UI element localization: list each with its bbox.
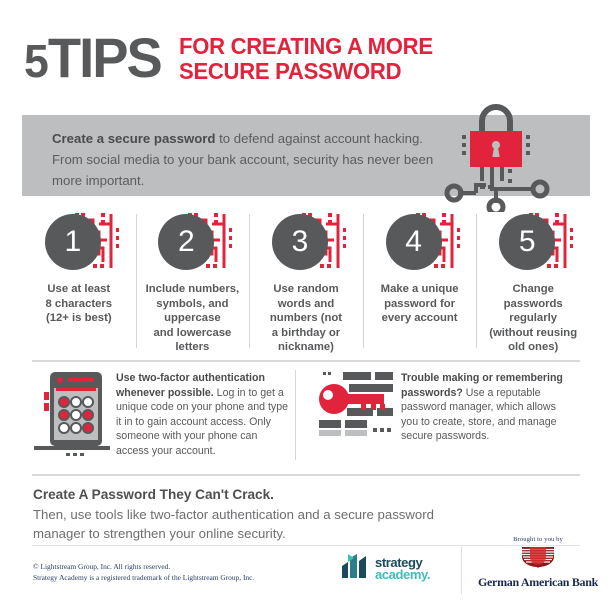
panel-two-factor: Use two-factor authentication whenever p… — [32, 370, 295, 470]
german-american-bank-logo: Brought to you by German American Bank — [472, 536, 604, 590]
tips-count: 5 — [24, 35, 48, 87]
footer-separator — [461, 546, 462, 594]
footer-legal: © Lightstream Group, Inc. All rights res… — [33, 562, 254, 583]
padlock-circuit-icon — [440, 97, 570, 212]
tip-number-5: 5 — [499, 214, 555, 270]
tip-text-3: Use randomwords andnumbers (nota birthda… — [255, 282, 357, 355]
strategy-academy-logo-icon — [340, 552, 370, 585]
infographic-page: 5TIPS FOR CREATING A MORE SECURE PASSWOR… — [0, 0, 612, 601]
tip-number-2: 2 — [158, 214, 214, 270]
divider-middle — [32, 474, 580, 476]
tip-item-3: 3 Use randomwords andnumbers (nota birth… — [249, 210, 363, 350]
panel-password-manager: Trouble making or remembering passwords?… — [295, 370, 580, 470]
footer-legal-line2: Strategy Academy is a registered tradema… — [33, 573, 254, 584]
german-american-bank-logo-icon — [472, 545, 604, 574]
footer-legal-line1: © Lightstream Group, Inc. All rights res… — [33, 562, 254, 573]
tip-badge-1: 1 — [28, 210, 130, 278]
tips-row: 1 Use at least8 characters(12+ is best) — [22, 210, 590, 350]
panel-password-manager-text: Trouble making or remembering passwords?… — [401, 370, 574, 470]
header: 5TIPS FOR CREATING A MORE SECURE PASSWOR… — [24, 20, 590, 98]
tip-text-5: Changepasswordsregularly(without reusing… — [482, 282, 584, 355]
tip-badge-2: 2 — [142, 210, 244, 278]
tip-number-1: 1 — [45, 214, 101, 270]
german-american-bank-name: German American Bank — [472, 575, 604, 590]
tip-item-5: 5 Changepasswordsregularly(without reusi… — [476, 210, 590, 350]
tip-badge-5: 5 — [482, 210, 584, 278]
divider-top — [32, 360, 580, 362]
tip-item-2: 2 Include numbers,symbols, anduppercasea… — [136, 210, 250, 350]
page-title: 5TIPS — [24, 30, 161, 89]
page-subtitle: FOR CREATING A MORE SECURE PASSWORD — [179, 34, 433, 84]
intro-banner-lead: Create a secure password — [52, 131, 215, 146]
strategy-academy-wordmark: strategy academy. — [375, 557, 430, 580]
tip-item-1: 1 Use at least8 characters(12+ is best) — [22, 210, 136, 350]
panels-row: Use two-factor authentication whenever p… — [32, 370, 580, 470]
page-subtitle-line1: FOR CREATING A MORE — [179, 34, 433, 59]
tip-item-4: 4 Make a uniquepassword forevery account — [363, 210, 477, 350]
brought-to-you-by-label: Brought to you by — [472, 536, 604, 543]
intro-banner-text: Create a secure password to defend again… — [52, 128, 447, 191]
tip-text-2: Include numbers,symbols, anduppercaseand… — [142, 282, 244, 355]
tip-badge-4: 4 — [369, 210, 471, 278]
key-password-list-icon — [317, 370, 401, 470]
page-subtitle-line2: SECURE PASSWORD — [179, 59, 433, 84]
tip-number-3: 3 — [272, 214, 328, 270]
closing-callout-body: Then, use tools like two-factor authenti… — [33, 505, 463, 543]
panel-two-factor-text: Use two-factor authentication whenever p… — [116, 370, 289, 470]
tip-number-4: 4 — [386, 214, 442, 270]
tip-text-4: Make a uniquepassword forevery account — [369, 282, 471, 326]
tips-word: TIPS — [48, 26, 161, 89]
strategy-academy-word2: academy. — [375, 569, 430, 581]
phone-keypad-icon — [32, 370, 116, 470]
strategy-academy-logo: strategy academy. — [340, 552, 430, 585]
closing-callout-title: Create A Password They Can't Crack. — [33, 485, 463, 505]
tip-text-1: Use at least8 characters(12+ is best) — [28, 282, 130, 326]
tip-badge-3: 3 — [255, 210, 357, 278]
closing-callout: Create A Password They Can't Crack. Then… — [33, 485, 463, 543]
